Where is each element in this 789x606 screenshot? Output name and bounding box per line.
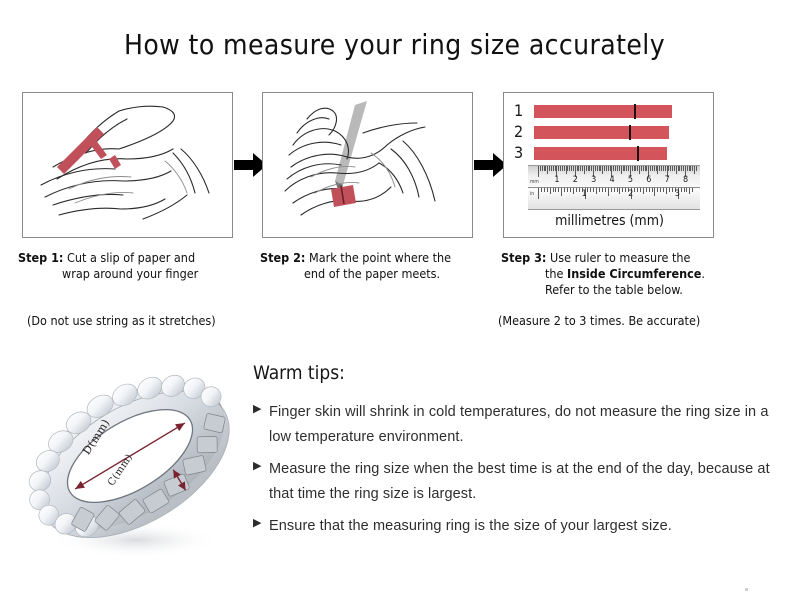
strip-mark-2 [629, 125, 631, 140]
ruler-tick [628, 166, 629, 171]
step-3-measurement-panel: 1 2 3 mm 12345678 in 123 millimetres (mm… [503, 92, 714, 238]
ruler-cm-number: 5 [628, 176, 633, 185]
ruler-cm-number: 8 [683, 176, 688, 185]
ruler-inch-number: 3 [675, 190, 680, 199]
page-title: How to measure your ring size accurately [0, 28, 789, 61]
ruler-cm-number: 2 [573, 176, 578, 185]
ruler-tick [621, 166, 622, 174]
ruler-tick [657, 188, 658, 192]
ruler-tick [670, 166, 671, 171]
ruler-tick [611, 188, 612, 192]
ruler-tick [591, 166, 592, 171]
ruler-cm-number: 1 [554, 176, 559, 185]
ruler-tick [593, 188, 594, 192]
step-3-label: Step 3: [501, 250, 546, 265]
ruler-tick [663, 166, 664, 171]
hand-with-paper-slip-drawing [23, 93, 231, 236]
ruler-tick [553, 188, 554, 192]
step-3-caption: Step 3: Use ruler to measure the the Ins… [501, 250, 741, 298]
strip-bar-2 [534, 126, 669, 139]
step-2-caption: Step 2: Mark the point where the end of … [260, 250, 500, 282]
warm-tips-heading: Warm tips: [253, 362, 773, 384]
ruler-tick [544, 166, 545, 171]
warm-tips-section: Warm tips: ▶ Finger skin will shrink in … [253, 362, 773, 546]
step-3-line-3: Refer to the table below. [501, 282, 741, 298]
ruler-tick [571, 166, 572, 171]
ruler-tick [573, 188, 574, 194]
ruler-cm-number: 3 [591, 176, 596, 185]
step-3-line-1: Use ruler to measure the [550, 250, 690, 265]
ruler-tick [558, 166, 559, 171]
ruler-inch-number: 1 [582, 190, 587, 199]
ruler-tick [605, 188, 606, 192]
ruler-tick [604, 166, 605, 171]
step-2-line-1: Mark the point where the [309, 250, 451, 265]
ruler-tick [550, 188, 551, 194]
ruler-tick [588, 166, 589, 171]
ruler-tick [654, 166, 655, 171]
tip-item-2: ▶ Measure the ring size when the best ti… [253, 457, 773, 507]
hand-marking-paper-drawing [263, 93, 471, 236]
ruler-tick [681, 188, 682, 192]
paper-slip-shapes [57, 127, 121, 174]
ruler-tick [599, 166, 600, 171]
ruler-tick [684, 188, 685, 192]
strip-mark-1 [634, 104, 636, 119]
ruler-tick [615, 166, 616, 171]
measured-strip-2: 2 [514, 124, 669, 140]
step-1-note: (Do not use string as it stretches) [27, 313, 216, 328]
measured-strip-3: 3 [514, 145, 667, 161]
ruler-caption: millimetres (mm) [504, 213, 714, 229]
ruler-tick [689, 166, 690, 171]
ruler-tick [625, 188, 626, 192]
ruler-tick [549, 166, 550, 171]
ruler-tick [645, 166, 646, 171]
ruler-tick [657, 166, 658, 174]
ruler-tick [649, 188, 650, 192]
tip-item-1: ▶ Finger skin will shrink in cold temper… [253, 400, 773, 450]
ruler-tick [547, 188, 548, 192]
ruler-tick [650, 166, 651, 171]
ruler-tick [690, 166, 691, 171]
ruler-tick [614, 188, 615, 192]
ruler-tick [652, 188, 653, 192]
scan-artifact [745, 588, 748, 591]
ruler-tick [579, 188, 580, 192]
eternity-ring-illustration [18, 352, 250, 572]
ruler-tick [558, 188, 559, 192]
ruler-tick [566, 166, 567, 174]
ruler-tick [678, 166, 679, 171]
ruler-tick [646, 188, 647, 192]
ruler-tick [541, 188, 542, 192]
ruler-tick [602, 188, 603, 192]
ruler-inch-unit-tag: in [530, 191, 534, 197]
ruler-tick [542, 166, 543, 171]
ruler-inch-scale: in 123 [528, 188, 700, 209]
step-3-line-2-prefix: the [545, 266, 567, 281]
ruler-tick [669, 188, 670, 192]
ruler-tick [622, 188, 623, 192]
ruler-tick [676, 166, 677, 174]
ruler-tick [555, 166, 556, 171]
step-2-line-2: end of the paper meets. [260, 266, 500, 282]
ruler-tick [576, 188, 577, 192]
ruler-tick [696, 166, 697, 171]
ruler-cm-number: 7 [665, 176, 670, 185]
ruler-tick [584, 166, 585, 174]
ruler-tick [561, 188, 562, 196]
tip-text-1: Finger skin will shrink in cold temperat… [269, 400, 773, 450]
ruler-tick [686, 188, 687, 192]
ruler-tick [637, 166, 638, 171]
ruler-tick [587, 188, 588, 192]
ruler-tick [564, 188, 565, 192]
ruler-tick [619, 188, 620, 194]
ruler-centimetre-scale: mm 12345678 [528, 166, 700, 188]
step-2-label: Step 2: [260, 250, 305, 265]
pen-shape [335, 101, 367, 195]
step-1-line-1: Cut a slip of paper and [67, 250, 195, 265]
ruler-tick [608, 166, 609, 171]
ruler-tick [617, 188, 618, 192]
ruler-tick [637, 188, 638, 192]
ruler-tick [595, 166, 596, 171]
ruler-tick [596, 188, 597, 194]
ruler-tick [562, 166, 563, 171]
ruler-tick [623, 166, 624, 171]
ruler-tick [661, 166, 662, 171]
ruler-tick [578, 166, 579, 171]
strip-bar-1 [534, 105, 672, 118]
ruler-tick [689, 188, 690, 194]
triangle-bullet-icon: ▶ [253, 457, 269, 471]
step-1-caption: Step 1: Cut a slip of paper and wrap aro… [18, 250, 258, 282]
ruler-cm-number: 6 [646, 176, 651, 185]
strip-mark-3 [637, 146, 639, 161]
inside-circumference-emphasis: Inside Circumference [567, 266, 701, 281]
triangle-bullet-icon: ▶ [253, 514, 269, 528]
ruler-tick [544, 188, 545, 192]
strip-bar-3 [534, 147, 667, 160]
step-1-line-2: wrap around your finger [18, 266, 258, 282]
ruler-tick [654, 188, 655, 196]
ruler-tick [545, 166, 546, 171]
ruler-tick [597, 166, 598, 171]
step-3-note: (Measure 2 to 3 times. Be accurate) [498, 313, 700, 328]
step-3-line-2-suffix: . [701, 266, 705, 281]
ruler-tick [608, 188, 609, 196]
ruler-tick [640, 188, 641, 192]
step-3-line-2: the Inside Circumference. [501, 266, 741, 282]
ruler-tick [660, 188, 661, 192]
strip-number-3: 3 [514, 145, 530, 161]
ruler-tick [610, 166, 611, 171]
ruler-tick [643, 188, 644, 194]
ruler-cm-unit-tag: mm [530, 179, 539, 185]
ruler-tick [683, 166, 684, 171]
tip-text-2: Measure the ring size when the best time… [269, 457, 773, 507]
ruler-tick [674, 166, 675, 171]
ruler-inch-number: 2 [628, 190, 633, 199]
ruler-tick [570, 188, 571, 192]
ruler-tick [599, 188, 600, 192]
measured-strip-1: 1 [514, 103, 672, 119]
ruler-tick [694, 166, 695, 174]
ruler-tick [634, 166, 635, 171]
ruler-tick [538, 188, 539, 199]
ruler-tick [687, 166, 688, 171]
ruler-tick [641, 166, 642, 171]
ruler-tick [635, 166, 636, 171]
ruler-tick [567, 188, 568, 192]
strip-number-1: 1 [514, 103, 530, 119]
step-1-label: Step 1: [18, 250, 63, 265]
ruler-tick [555, 188, 556, 192]
ruler: mm 12345678 in 123 [528, 165, 700, 210]
ruler-tick [692, 188, 693, 192]
triangle-bullet-icon: ▶ [253, 400, 269, 414]
ruler-cm-number: 4 [609, 176, 614, 185]
ruler-tick [672, 188, 673, 192]
step-2-illustration-panel [262, 92, 473, 238]
ruler-tick [569, 166, 570, 171]
strip-number-2: 2 [514, 124, 530, 140]
ruler-tick [624, 166, 625, 171]
ruler-tick [663, 188, 664, 192]
ruler-tick [590, 188, 591, 192]
ring-diagram: D(mm) C(mm) [18, 352, 250, 572]
ruler-tick [666, 188, 667, 194]
ruler-tick [634, 188, 635, 192]
tip-text-3: Ensure that the measuring ring is the si… [269, 514, 773, 539]
tip-item-3: ▶ Ensure that the measuring ring is the … [253, 514, 773, 539]
ruler-tick [582, 166, 583, 171]
step-1-illustration-panel [22, 92, 233, 238]
